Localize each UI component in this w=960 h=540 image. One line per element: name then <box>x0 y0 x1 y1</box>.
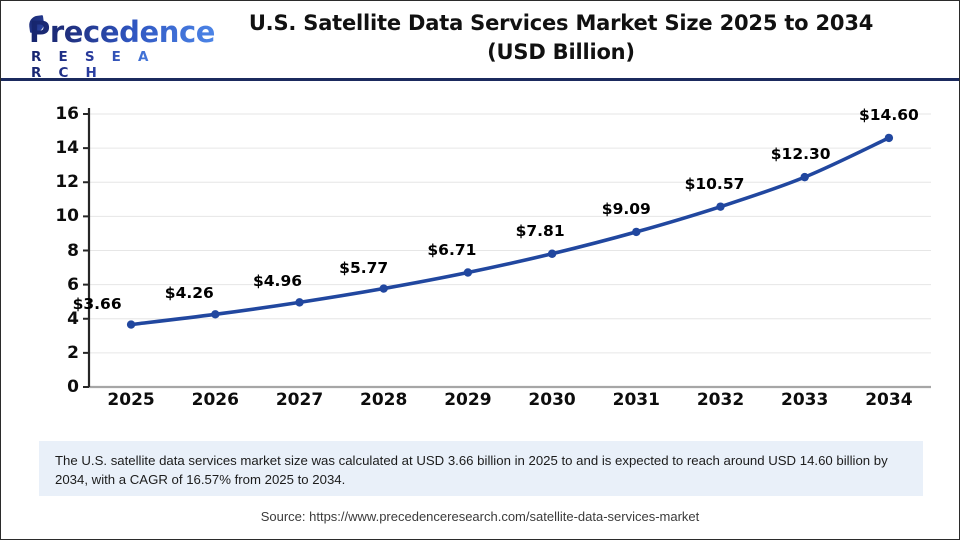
data-label-2026: $4.26 <box>144 284 234 302</box>
y-tick-8: 8 <box>33 241 79 261</box>
x-tick-2026: 2026 <box>170 390 260 410</box>
data-label-2027: $4.96 <box>233 272 323 290</box>
y-tick-6: 6 <box>33 275 79 295</box>
y-tick-2: 2 <box>33 343 79 363</box>
x-tick-2034: 2034 <box>844 390 934 410</box>
x-tick-2025: 2025 <box>86 390 176 410</box>
data-label-2029: $6.71 <box>407 241 497 259</box>
x-tick-2031: 2031 <box>591 390 681 410</box>
footnote-box: The U.S. satellite data services market … <box>39 441 923 496</box>
page-title: U.S. Satellite Data Services Market Size… <box>191 9 931 67</box>
data-label-2028: $5.77 <box>319 259 409 277</box>
footnote-text: The U.S. satellite data services market … <box>55 451 907 489</box>
source-line: Source: https://www.precedenceresearch.c… <box>1 509 959 524</box>
chart-page: Precedence R E S E A R C H U.S. Satellit… <box>0 0 960 540</box>
page-title-line-1: U.S. Satellite Data Services Market Size… <box>191 9 931 38</box>
data-label-2032: $10.57 <box>670 175 760 193</box>
data-label-2025: $3.66 <box>52 295 142 313</box>
x-tick-2030: 2030 <box>507 390 597 410</box>
x-tick-2027: 2027 <box>255 390 345 410</box>
data-label-2034: $14.60 <box>844 106 934 124</box>
precedence-research-logo: Precedence R E S E A R C H <box>13 15 173 71</box>
logo-wordmark: Precedence <box>29 15 215 49</box>
data-label-2030: $7.81 <box>495 222 585 240</box>
y-tick-10: 10 <box>33 206 79 226</box>
data-label-2031: $9.09 <box>581 200 671 218</box>
chart-plot-area: 0246810121416 20252026202720282029203020… <box>1 83 959 433</box>
logo-subtitle: R E S E A R C H <box>31 49 173 81</box>
x-tick-2029: 2029 <box>423 390 513 410</box>
y-tick-0: 0 <box>33 377 79 397</box>
y-tick-12: 12 <box>33 172 79 192</box>
x-tick-2028: 2028 <box>339 390 429 410</box>
y-tick-16: 16 <box>33 104 79 124</box>
x-tick-2032: 2032 <box>676 390 766 410</box>
data-label-2033: $12.30 <box>756 145 846 163</box>
header-bar: Precedence R E S E A R C H U.S. Satellit… <box>1 1 959 81</box>
page-title-line-2: (USD Billion) <box>191 38 931 67</box>
x-tick-2033: 2033 <box>760 390 850 410</box>
y-tick-14: 14 <box>33 138 79 158</box>
